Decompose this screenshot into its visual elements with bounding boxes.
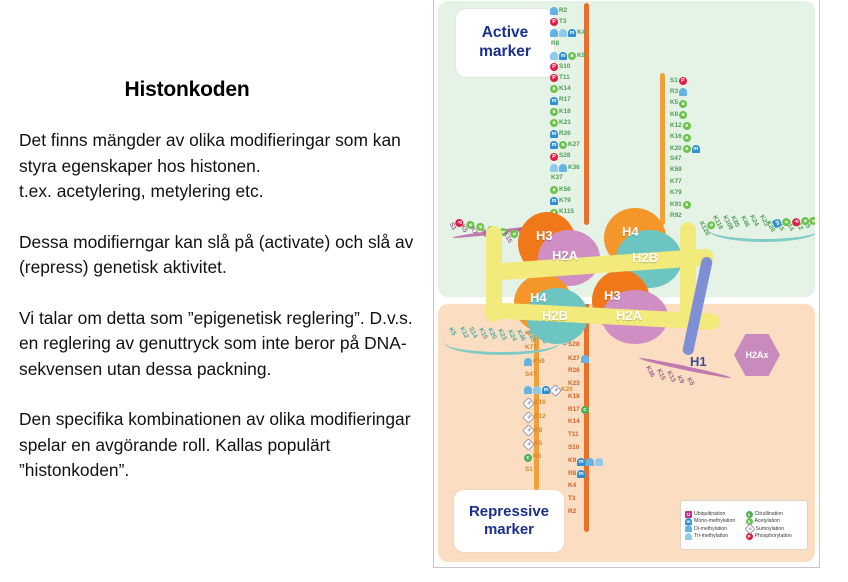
legend-item-di-methylation: Di-methylation <box>685 525 743 533</box>
residue-marks: am <box>683 145 700 153</box>
residue-H3-K4: K4 <box>568 483 577 489</box>
residue-marks: ms <box>524 386 560 395</box>
residue-label: S47 <box>670 156 681 162</box>
residue-H4-S47: S47 <box>670 156 682 162</box>
repressive-marker-label: Repressivemarker <box>454 490 564 552</box>
residue-H4-K59: K59 <box>524 358 545 366</box>
residue-label: K14 <box>568 419 580 425</box>
residue-H4-K8: sK8 <box>524 426 542 435</box>
su-mark-icon: s <box>522 438 535 451</box>
legend-item-label: Citrullination <box>755 511 784 517</box>
slide-text-column: Histonkoden Det finns mängder av olika m… <box>0 0 432 582</box>
residue-label: S28 <box>559 153 570 159</box>
mono-mark-icon: m <box>550 97 558 105</box>
cit-mark-icon: c <box>581 406 589 414</box>
residue-label: K115 <box>559 209 574 215</box>
residue-marks: s <box>524 440 533 449</box>
tri-mark-icon <box>685 533 692 540</box>
residue-marks <box>550 7 558 15</box>
legend-item-label: Mono-methylation <box>694 518 735 524</box>
residue-marks: s <box>524 426 533 435</box>
residue-label: S10 <box>559 64 570 70</box>
residue-H4-K91: K91 <box>524 318 537 324</box>
ph-mark-icon: P <box>550 63 558 71</box>
residue-H3-K37: K37 <box>568 317 581 323</box>
residue-H4-K8: aK8 <box>670 111 687 119</box>
residue-marks: a <box>679 100 687 108</box>
residue-label: K9 <box>568 458 576 464</box>
ac-mark-icon: a <box>568 52 576 60</box>
residue-H3-R2: R2 <box>568 509 577 515</box>
residue-label: K36 <box>644 365 655 378</box>
legend-item-mono-methylation: mMono-methylation <box>685 518 743 525</box>
residue-label: K12 <box>534 414 546 420</box>
residue-label: S1 <box>525 467 533 473</box>
residue-marks: c <box>524 454 532 462</box>
ac-mark-icon: a <box>550 209 558 217</box>
residue-label: K18 <box>559 109 571 115</box>
mono-mark-icon: m <box>568 29 576 37</box>
di-mark-icon <box>685 525 692 532</box>
residue-label: K79 <box>559 198 571 204</box>
residue-marks: m <box>550 97 558 105</box>
residue-label: R3 <box>670 89 678 95</box>
legend-item-label: Tri-methylation <box>694 533 728 539</box>
residue-label: R3 <box>533 454 541 460</box>
su-mark-icon: s <box>522 397 535 410</box>
residue-marks <box>550 164 567 172</box>
residue-marks: a <box>550 209 558 217</box>
active-h4-tail-strand <box>660 73 665 225</box>
residue-H3-R8: R8 <box>550 41 559 47</box>
legend-item-citrullination: cCitrullination <box>746 511 804 518</box>
residue-marks <box>581 355 589 363</box>
repressive-h3-tail-strand <box>584 304 589 532</box>
di-mark-icon <box>550 7 558 15</box>
residue-label: K36 <box>568 330 580 336</box>
residue-H3-K36: K36 <box>568 330 581 336</box>
tri-mark-icon <box>559 29 567 37</box>
tri-mark-icon <box>595 458 603 466</box>
residue-marks: P <box>550 74 558 82</box>
residue-label: K79 <box>670 190 682 196</box>
residue-H4-K12: sK12 <box>524 413 546 422</box>
su-mark-icon: s <box>522 411 535 424</box>
residue-H3-K14: aK14 <box>550 85 571 93</box>
residue-label: K91 <box>525 318 537 324</box>
residue-H4-K12: aK12 <box>670 122 691 130</box>
residue-H3-K14: K14 <box>568 419 581 425</box>
residue-marks: s <box>524 399 533 408</box>
mono-mark-icon: m <box>559 52 567 60</box>
di-mark-icon <box>559 164 567 172</box>
residue-label: K20 <box>561 387 573 393</box>
residue-H4-K20: msK20 <box>524 386 573 395</box>
h2ax-variant-shape: H2Ax <box>734 334 780 376</box>
residue-label: R17 <box>568 407 580 413</box>
residue-label: K9 <box>479 228 488 238</box>
residue-label: R2 <box>559 8 567 14</box>
residue-label: K5 <box>685 377 694 387</box>
ac-mark-icon: a <box>683 201 691 209</box>
residue-H4-R3: cR3 <box>524 454 541 462</box>
legend-item-label: Ubiquitination <box>694 511 725 517</box>
legend-item-label: Di-methylation <box>694 526 727 532</box>
paragraph-2: Dessa modifierngar kan slå på (activate)… <box>19 230 431 281</box>
residue-label: S1 <box>670 78 678 84</box>
residue-H4-R92: R92 <box>670 213 683 219</box>
residue-label: K9 <box>674 375 683 385</box>
residue-label: K14 <box>559 86 571 92</box>
residue-H3-K18: aK18 <box>550 108 571 116</box>
residue-H4-R3: R3 <box>670 88 687 96</box>
residue-H3-K9: mK9 <box>568 458 603 466</box>
ph-mark-icon: P <box>550 153 558 161</box>
residue-label: S47 <box>525 372 536 378</box>
cit-mark-icon: c <box>524 454 532 462</box>
paragraph-3: Vi talar om detta som ”epigenetisk regle… <box>19 306 431 383</box>
residue-H3-R2: R2 <box>550 7 567 15</box>
tri-mark-icon <box>533 386 541 394</box>
ac-mark-icon: a <box>550 85 558 93</box>
residue-H4-K59: K59 <box>670 167 683 173</box>
residue-H3-T11: PT11 <box>550 74 570 82</box>
residue-H4-R92: R92 <box>524 304 537 310</box>
residue-label: K36 <box>568 165 580 171</box>
residue-label: K9 <box>577 53 585 59</box>
legend-item-label: Phosphorylation <box>755 533 792 539</box>
residue-label: T11 <box>568 432 579 438</box>
residue-marks: m <box>577 470 585 478</box>
ac-mark-icon: a <box>550 119 558 127</box>
residue-H4-K79: K79 <box>670 190 683 196</box>
mono-mark-icon: m <box>577 458 585 466</box>
ub-mark-icon: U <box>685 511 692 518</box>
ac-mark-icon: a <box>679 100 687 108</box>
residue-H4-K16: sK16 <box>524 399 546 408</box>
di-mark-icon <box>524 386 532 394</box>
residue-H3-T3: T3 <box>568 496 576 502</box>
residue-H4-K91: aK91 <box>670 201 691 209</box>
ac-mark-icon: a <box>550 186 558 194</box>
residue-label: R92 <box>525 304 537 310</box>
di-mark-icon <box>524 358 532 366</box>
residue-label: K12 <box>670 123 682 129</box>
residue-label: K59 <box>533 359 545 365</box>
residue-label: K91 <box>670 202 682 208</box>
residue-marks: a <box>683 122 691 130</box>
ac-mark-icon: a <box>683 134 691 142</box>
residue-marks: m <box>550 197 558 205</box>
legend-item-phosphorylation: PPhosphorylation <box>746 533 804 540</box>
residue-H4-S47: S47 <box>524 372 536 378</box>
residue-label: R8 <box>568 471 576 477</box>
di-mark-icon <box>586 458 594 466</box>
residue-marks: P <box>550 63 558 71</box>
residue-H3-S10: PS10 <box>550 63 570 71</box>
active-marker-panel: Activemarker R2PT3mK4R8maK9PS10PT11aK14m… <box>438 1 815 297</box>
residue-H2A-K95: K95 <box>525 229 537 243</box>
residue-H4-K20: amK20 <box>670 145 700 153</box>
residue-label: K4 <box>568 483 576 489</box>
residue-H3-K79: mK79 <box>550 197 571 205</box>
residue-label: T11 <box>559 75 570 81</box>
residue-H3-R17: mR17 <box>550 97 571 105</box>
residue-H4-K16: aK16 <box>670 134 691 142</box>
residue-marks: a <box>683 201 691 209</box>
ph-mark-icon: P <box>550 18 558 26</box>
residue-marks: a <box>550 85 558 93</box>
residue-H3-R17: cR17 <box>568 406 589 414</box>
mono-mark-icon: m <box>692 145 700 153</box>
residue-marks: P <box>679 77 687 85</box>
histone-modification-figure: Activemarker R2PT3mK4R8maK9PS10PT11aK14m… <box>433 0 820 568</box>
residue-label: K95 <box>525 230 536 243</box>
residue-label: K20 <box>670 146 682 152</box>
su-mark-icon: s <box>522 425 535 438</box>
residue-H3-K23: aK23 <box>550 119 571 127</box>
residue-label: T3 <box>559 19 566 25</box>
di-mark-icon <box>550 29 558 37</box>
residue-H3-K9: maK9 <box>550 52 585 60</box>
residue-marks: ma <box>550 52 576 60</box>
residue-label: K5 <box>534 441 542 447</box>
mono-mark-icon: m <box>577 470 585 478</box>
ac-mark-icon: a <box>559 141 567 149</box>
residue-label: R17 <box>559 97 571 103</box>
residue-H3-S10: S10 <box>568 445 580 451</box>
residue-label: K77 <box>670 179 682 185</box>
residue-marks <box>679 88 687 96</box>
legend-item-label: Acetylation <box>755 518 780 524</box>
residue-marks: m <box>550 29 576 37</box>
tri-mark-icon <box>550 52 558 60</box>
residue-marks: P <box>550 153 558 161</box>
residue-marks: a <box>683 134 691 142</box>
mono-mark-icon: m <box>685 518 692 525</box>
residue-H3-S28: S28 <box>568 342 580 348</box>
residue-H3-R26: mR26 <box>550 130 571 138</box>
residue-label: K27 <box>568 356 580 362</box>
residue-marks: m <box>550 130 558 138</box>
residue-label: K8 <box>534 428 542 434</box>
residue-H4-K5: sK5 <box>524 440 542 449</box>
residue-label: K4 <box>577 30 585 36</box>
residue-marks: ma <box>550 141 567 149</box>
paragraph-4: Den specifika kombinationen av olika mod… <box>19 407 431 484</box>
residue-label: K5 <box>670 100 678 106</box>
residue-marks: c <box>581 406 589 414</box>
residue-label: R26 <box>559 131 571 137</box>
residue-marks <box>524 358 532 366</box>
residue-H4-S1: PS1 <box>670 77 687 85</box>
ac-mark-icon: a <box>550 108 558 116</box>
residue-label: K16 <box>534 400 546 406</box>
residue-H2A-K9: K9 <box>674 374 684 385</box>
residue-label: R2 <box>568 509 576 515</box>
residue-label: S1 <box>447 222 456 232</box>
modification-legend: UUbiquitinationcCitrullinationmMono-meth… <box>680 500 808 550</box>
su-mark-icon: s <box>549 384 562 397</box>
residue-H3-K37: K37 <box>550 175 563 181</box>
residue-H4-S1: S1 <box>524 467 533 473</box>
residue-H3-S28: PS28 <box>550 153 570 161</box>
paragraph-1: Det finns mängder av olika modifieringar… <box>19 128 431 205</box>
residue-marks: a <box>679 111 687 119</box>
repressive-marker-panel: Repressivemarker K56K37K36S28K27R26K23K1… <box>438 304 815 562</box>
residue-label: R8 <box>551 41 559 47</box>
ac-mark-icon: a <box>679 111 687 119</box>
cit-mark-icon: c <box>746 511 753 518</box>
residue-label: K37 <box>551 175 563 181</box>
residue-label: S10 <box>568 445 579 451</box>
residue-H3-T3: PT3 <box>550 18 566 26</box>
di-mark-icon <box>581 355 589 363</box>
residue-marks: s <box>524 413 533 422</box>
residue-label: K15 <box>654 368 665 381</box>
legend-item-ubiquitination: UUbiquitination <box>685 511 743 518</box>
residue-marks: a <box>550 108 558 116</box>
page-title: Histonkoden <box>0 78 374 102</box>
active-marker-label: Activemarker <box>456 9 554 77</box>
residue-label: K8 <box>670 112 678 118</box>
residue-H3-R8: mR8 <box>568 470 585 478</box>
ac-mark-icon: a <box>683 122 691 130</box>
residue-H3-K27: K27 <box>568 355 589 363</box>
residue-marks: P <box>550 18 558 26</box>
mono-mark-icon: m <box>550 197 558 205</box>
legend-item-sumoylation: sSumoylation <box>746 525 804 533</box>
ph-mark-icon: P <box>679 77 687 85</box>
residue-label: K23 <box>559 120 571 126</box>
residue-H2A-K5: K5 <box>685 377 695 388</box>
residue-marks: m <box>577 458 603 466</box>
residue-label: T3 <box>568 496 575 502</box>
residue-H3-R26: R26 <box>568 368 581 374</box>
residue-H3-K56: aK56 <box>550 186 571 194</box>
residue-H3-T11: T11 <box>568 432 580 438</box>
residue-label: K5 <box>458 224 467 234</box>
residue-label: K56 <box>559 187 571 193</box>
residue-label: R26 <box>568 368 580 374</box>
residue-H3-K56: K56 <box>568 304 581 310</box>
residue-H3-K115: aK115 <box>550 209 574 217</box>
slide-body-text: Det finns mängder av olika modifieringar… <box>19 128 431 484</box>
residue-H3-K36: K36 <box>550 164 580 172</box>
mono-mark-icon: m <box>550 130 558 138</box>
residue-H4-K5: aK5 <box>670 100 687 108</box>
ac-mark-icon: a <box>683 145 691 153</box>
tri-mark-icon <box>550 164 558 172</box>
residue-marks: a <box>550 186 558 194</box>
di-mark-icon <box>679 88 687 96</box>
legend-item-tri-methylation: Tri-methylation <box>685 533 743 540</box>
residue-label: K16 <box>670 134 682 140</box>
residue-label: K59 <box>670 167 682 173</box>
legend-item-label: Sumoylation <box>756 526 785 532</box>
mono-mark-icon: m <box>550 141 558 149</box>
residue-H3-K27: maK27 <box>550 141 580 149</box>
legend-item-acetylation: aAcetylation <box>746 518 804 525</box>
residue-marks: a <box>550 119 558 127</box>
residue-label: K27 <box>568 142 580 148</box>
residue-label: R92 <box>670 213 682 219</box>
residue-label: K56 <box>568 304 580 310</box>
residue-H4-K77: K77 <box>670 179 683 185</box>
ph-mark-icon: P <box>550 74 558 82</box>
residue-H3-K4: mK4 <box>550 29 585 37</box>
residue-label: K37 <box>568 317 580 323</box>
residue-label: S28 <box>568 342 579 348</box>
